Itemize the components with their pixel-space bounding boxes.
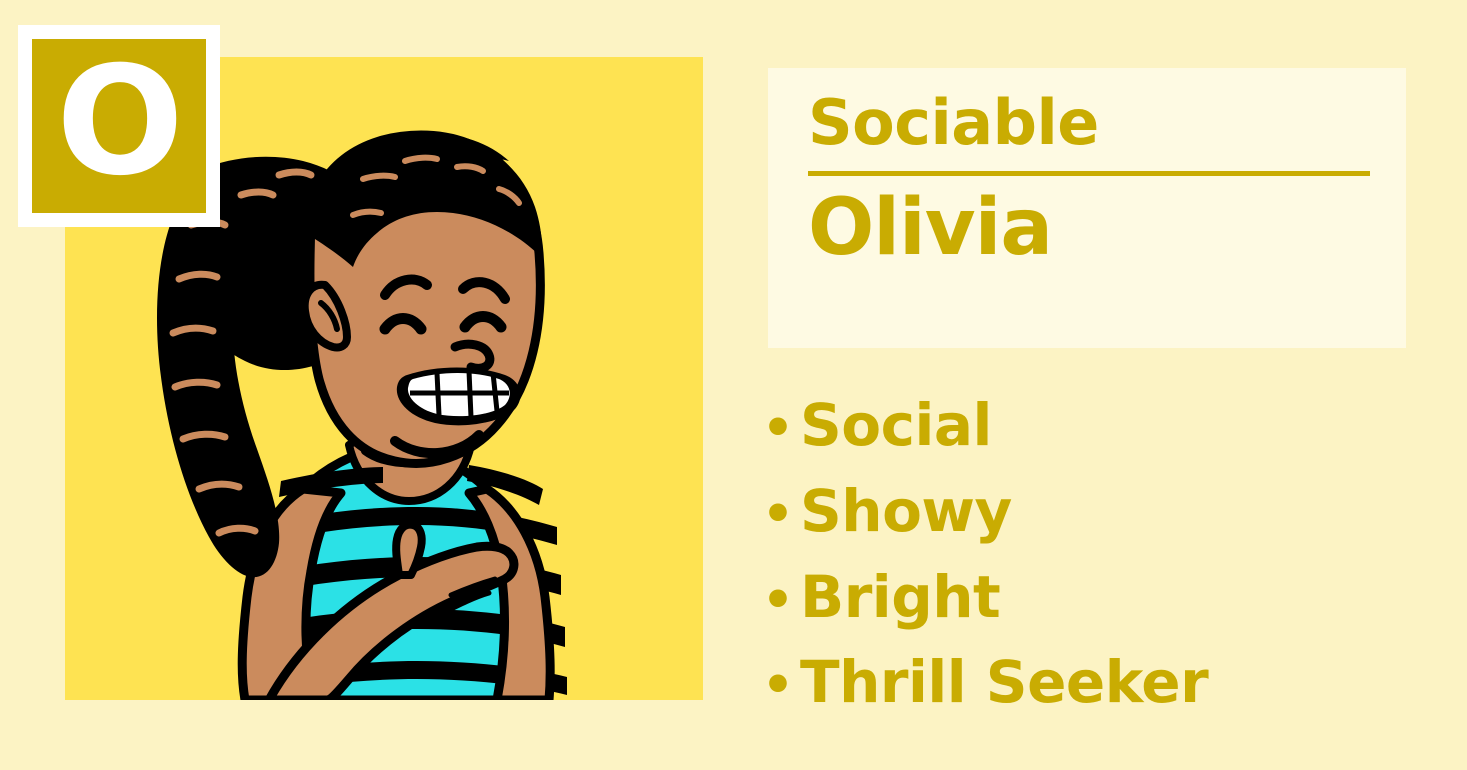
card-divider <box>808 171 1370 176</box>
traits-list: • Social • Showy • Bright • Thrill Seeke… <box>762 383 1208 726</box>
trait-label: Thrill Seeker <box>800 640 1208 726</box>
letter-badge-letter: O <box>56 47 182 197</box>
bullet-icon: • <box>762 563 800 637</box>
trait-list-item: • Thrill Seeker <box>762 640 1208 726</box>
trait-label: Social <box>800 383 992 469</box>
letter-badge-inner: O <box>32 39 206 213</box>
bullet-icon: • <box>762 391 800 465</box>
trait-headline: Sociable <box>808 90 1366 157</box>
trait-list-item: • Showy <box>762 469 1208 555</box>
trait-label: Bright <box>800 555 1000 641</box>
bullet-icon: • <box>762 648 800 722</box>
trait-list-item: • Social <box>762 383 1208 469</box>
name-card: Sociable Olivia <box>768 68 1406 348</box>
trait-label: Showy <box>800 469 1012 555</box>
personality-card-root: O Sociable Olivia • Social • Showy • Bri… <box>0 0 1467 770</box>
bullet-icon: • <box>762 477 800 551</box>
person-name: Olivia <box>808 186 1366 270</box>
trait-list-item: • Bright <box>762 555 1208 641</box>
letter-badge: O <box>18 25 220 227</box>
